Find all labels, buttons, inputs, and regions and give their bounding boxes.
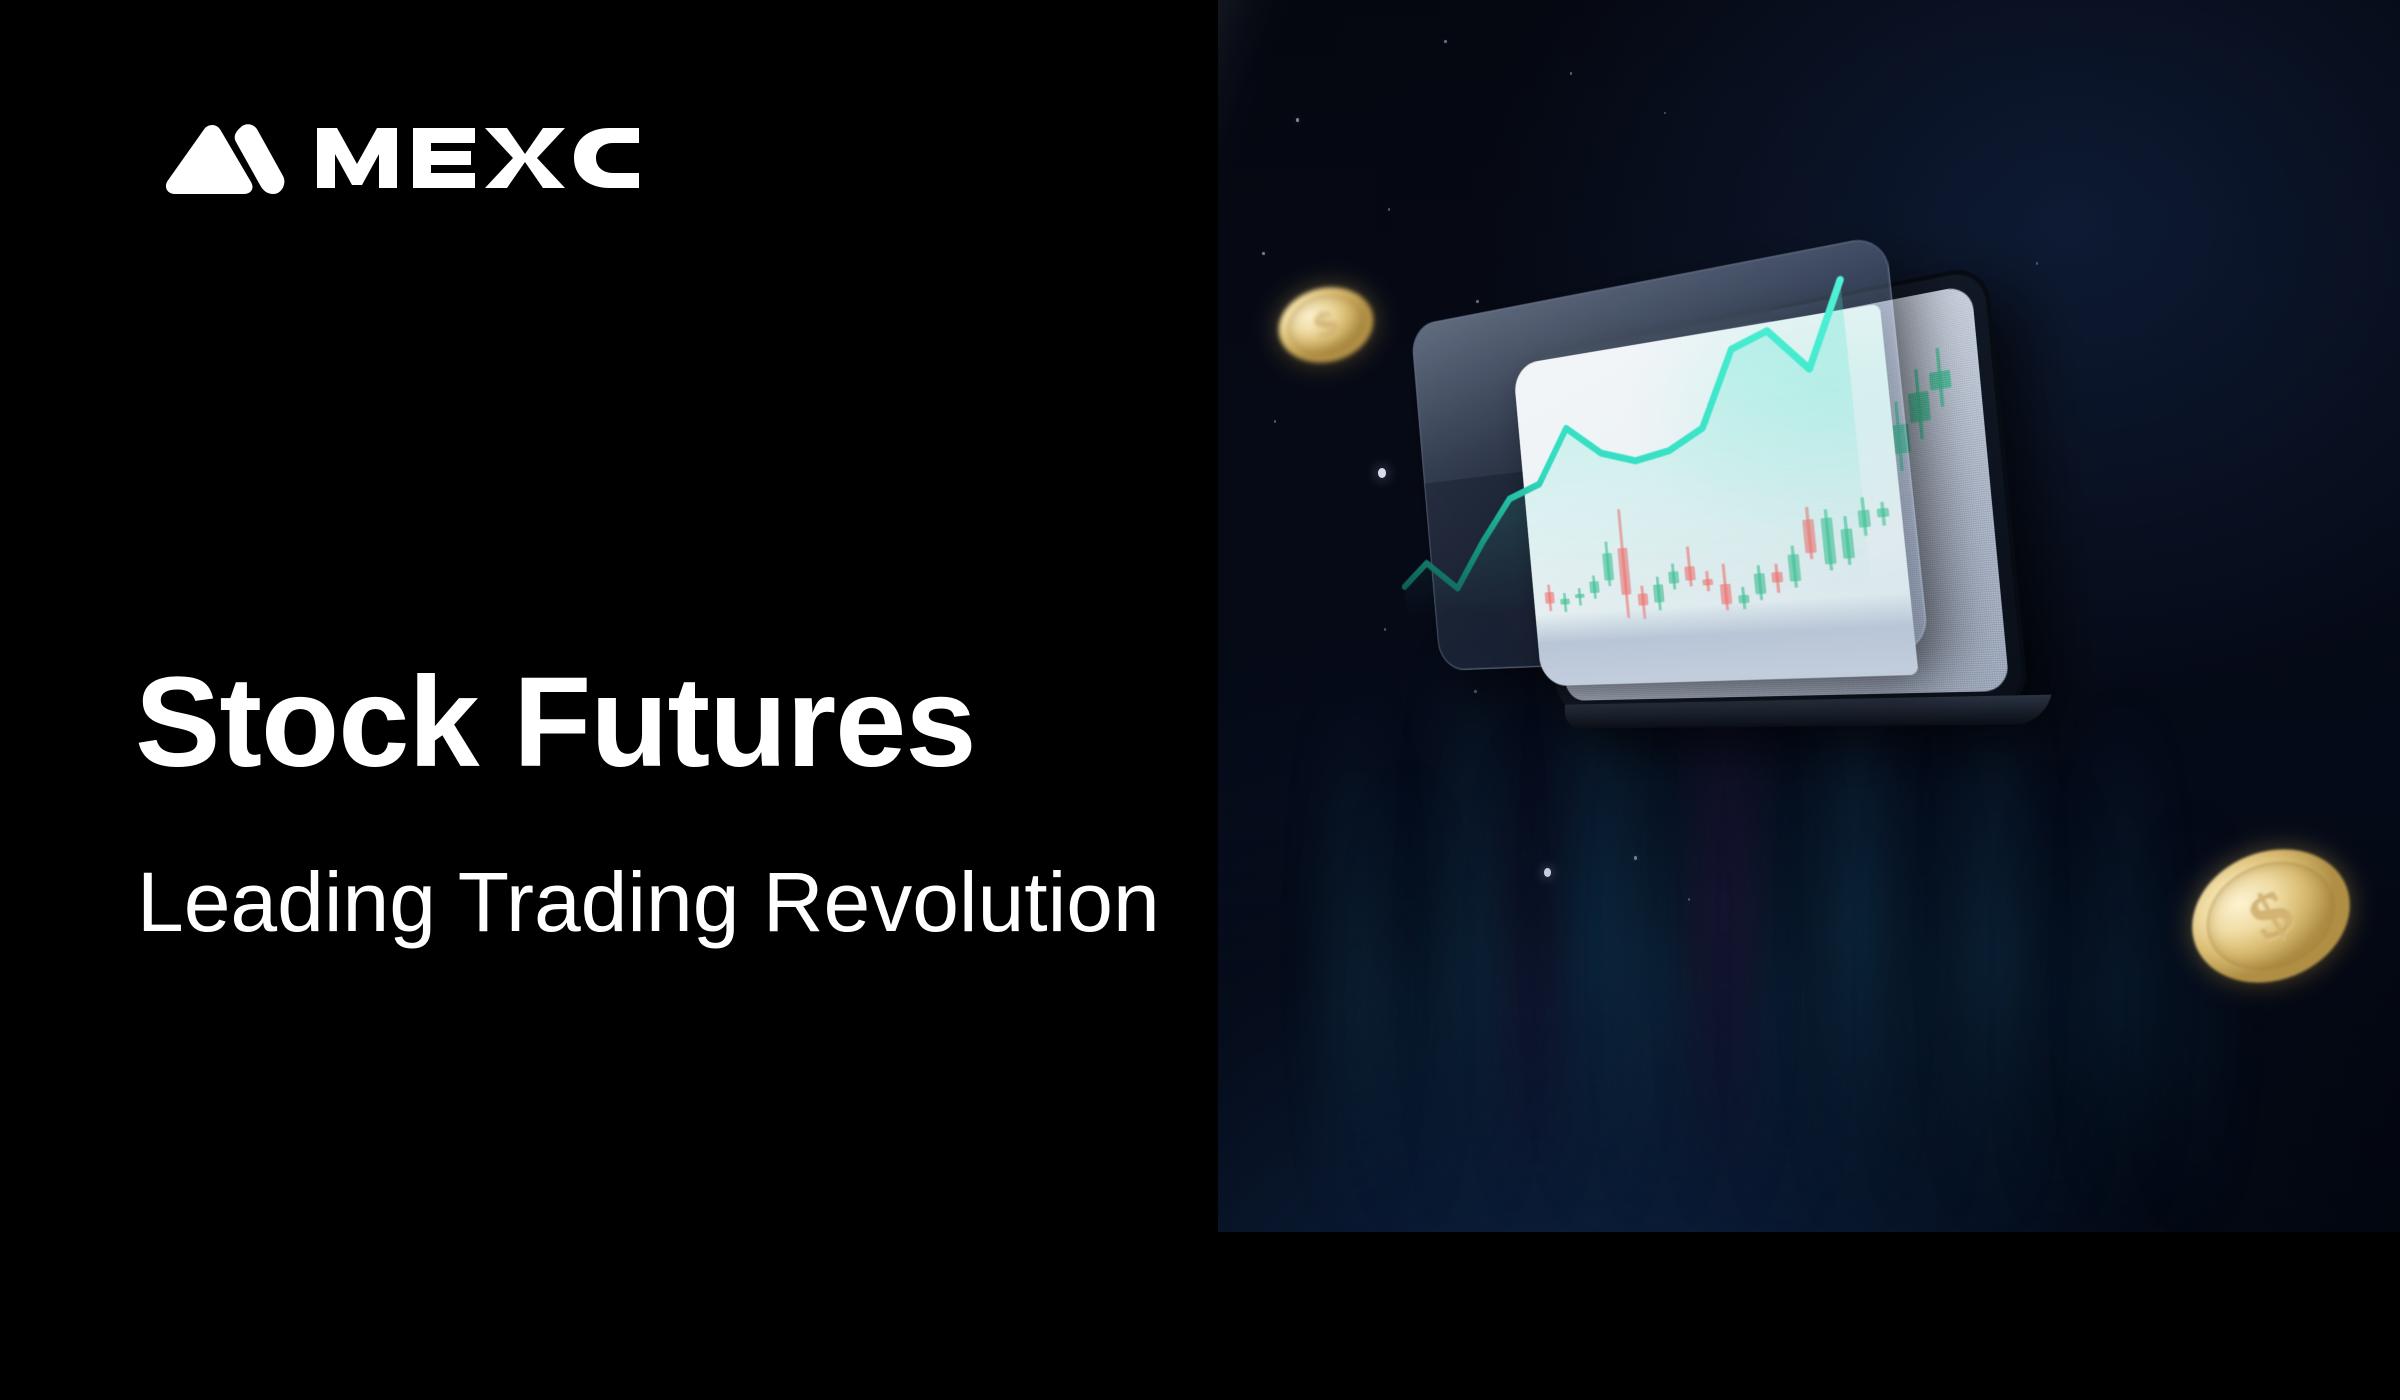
mexc-wordmark [313,126,643,190]
hero-visual-panel: $ $ [1218,0,2400,1232]
star-2 [1570,72,1572,75]
star-5 [1664,112,1666,114]
star-8 [1378,468,1386,478]
star-14 [1384,628,1386,631]
page-title: Stock Futures [135,656,1335,789]
star-15 [1474,690,1477,693]
candle-body [1908,391,1931,423]
mexc-logo[interactable] [163,122,643,194]
candle-body [1929,370,1952,391]
star-1 [1444,40,1447,43]
star-20 [1688,898,1690,901]
stock-futures-hero-banner: $ $ [0,0,2400,1400]
mexc-mountain-logo-icon [163,122,287,194]
star-4 [1388,208,1390,211]
star-22 [2036,262,2038,265]
star-10 [1274,420,1276,423]
star-7 [1476,300,1479,303]
star-19 [1634,856,1637,860]
star-18 [1544,868,1551,877]
star-3 [1262,252,1265,255]
page-subtitle: Leading Trading Revolution [137,856,1437,948]
star-0 [1296,118,1299,122]
